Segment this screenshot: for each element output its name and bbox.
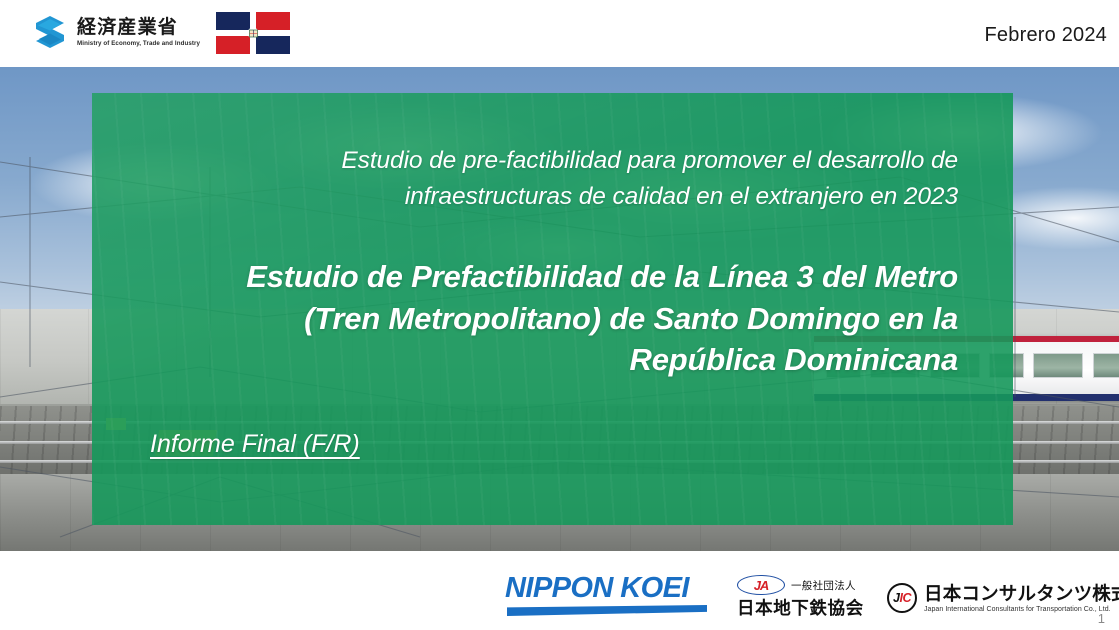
flag-quadrant-top-left xyxy=(216,12,250,30)
footer-logo-row: NIPPON KOEI JA 一般社団法人 日本地下鉄協会 JIC 日本コンサル… xyxy=(505,570,1111,622)
page-number: 1 xyxy=(1098,611,1105,626)
hero-subtitle: Estudio de pre-factibilidad para promove… xyxy=(150,143,958,214)
flag-quadrant-bottom-left xyxy=(216,36,250,54)
jsa-logo-top-row: JA 一般社団法人 xyxy=(737,574,861,596)
jic-badge-right-letters: IC xyxy=(899,592,911,605)
jic-name-en: Japan International Consultants for Tran… xyxy=(924,606,1119,613)
flag-quadrant-top-right xyxy=(256,12,290,30)
panel-content: Estudio de pre-factibilidad para promove… xyxy=(92,93,1013,525)
hero-photo-band: Estudio de pre-factibilidad para promove… xyxy=(0,67,1119,551)
nippon-koei-swoosh-icon xyxy=(507,605,707,616)
meti-name-jp: 経済産業省 xyxy=(77,17,200,38)
flag-quadrant-bottom-right xyxy=(256,36,290,54)
jic-name-jp: 日本コンサルタンツ株式会社 xyxy=(924,583,1119,604)
jsa-name-jp: 日本地下鉄協会 xyxy=(737,599,861,618)
meti-hexagon-icon xyxy=(30,12,70,52)
jic-logo-text: 日本コンサルタンツ株式会社 Japan International Consul… xyxy=(924,583,1119,612)
jsa-oval-mark-icon: JA xyxy=(737,575,785,595)
slide-root: 経済産業省 Ministry of Economy, Trade and Ind… xyxy=(0,0,1119,630)
jsa-prefix-text: 一般社団法人 xyxy=(791,578,856,593)
jic-circle-badge-icon: JIC xyxy=(887,583,917,613)
meti-name-en: Ministry of Economy, Trade and Industry xyxy=(77,40,200,47)
meti-logo: 経済産業省 Ministry of Economy, Trade and Ind… xyxy=(30,9,212,55)
slide-date: Febrero 2024 xyxy=(985,24,1107,47)
hero-green-overlay-panel: Estudio de pre-factibilidad para promove… xyxy=(92,93,1013,525)
slide-header: 経済産業省 Ministry of Economy, Trade and Ind… xyxy=(0,0,1119,67)
japan-subway-association-logo: JA 一般社団法人 日本地下鉄協会 xyxy=(737,574,861,622)
jic-logo: JIC 日本コンサルタンツ株式会社 Japan International Co… xyxy=(887,574,1111,622)
hero-title: Estudio de Prefactibilidad de la Línea 3… xyxy=(150,256,958,381)
nippon-koei-logo: NIPPON KOEI xyxy=(505,570,711,622)
hero-report-label: Informe Final (F/R) xyxy=(150,430,958,459)
slide-footer: NIPPON KOEI JA 一般社団法人 日本地下鉄協会 JIC 日本コンサル… xyxy=(0,551,1119,630)
meti-logo-text: 経済産業省 Ministry of Economy, Trade and Ind… xyxy=(77,17,200,46)
jsa-mark-letters: JA xyxy=(738,576,784,594)
nippon-koei-wordmark: NIPPON KOEI xyxy=(505,572,715,605)
flag-coat-of-arms-icon xyxy=(248,28,259,39)
dominican-republic-flag-icon xyxy=(216,12,290,54)
